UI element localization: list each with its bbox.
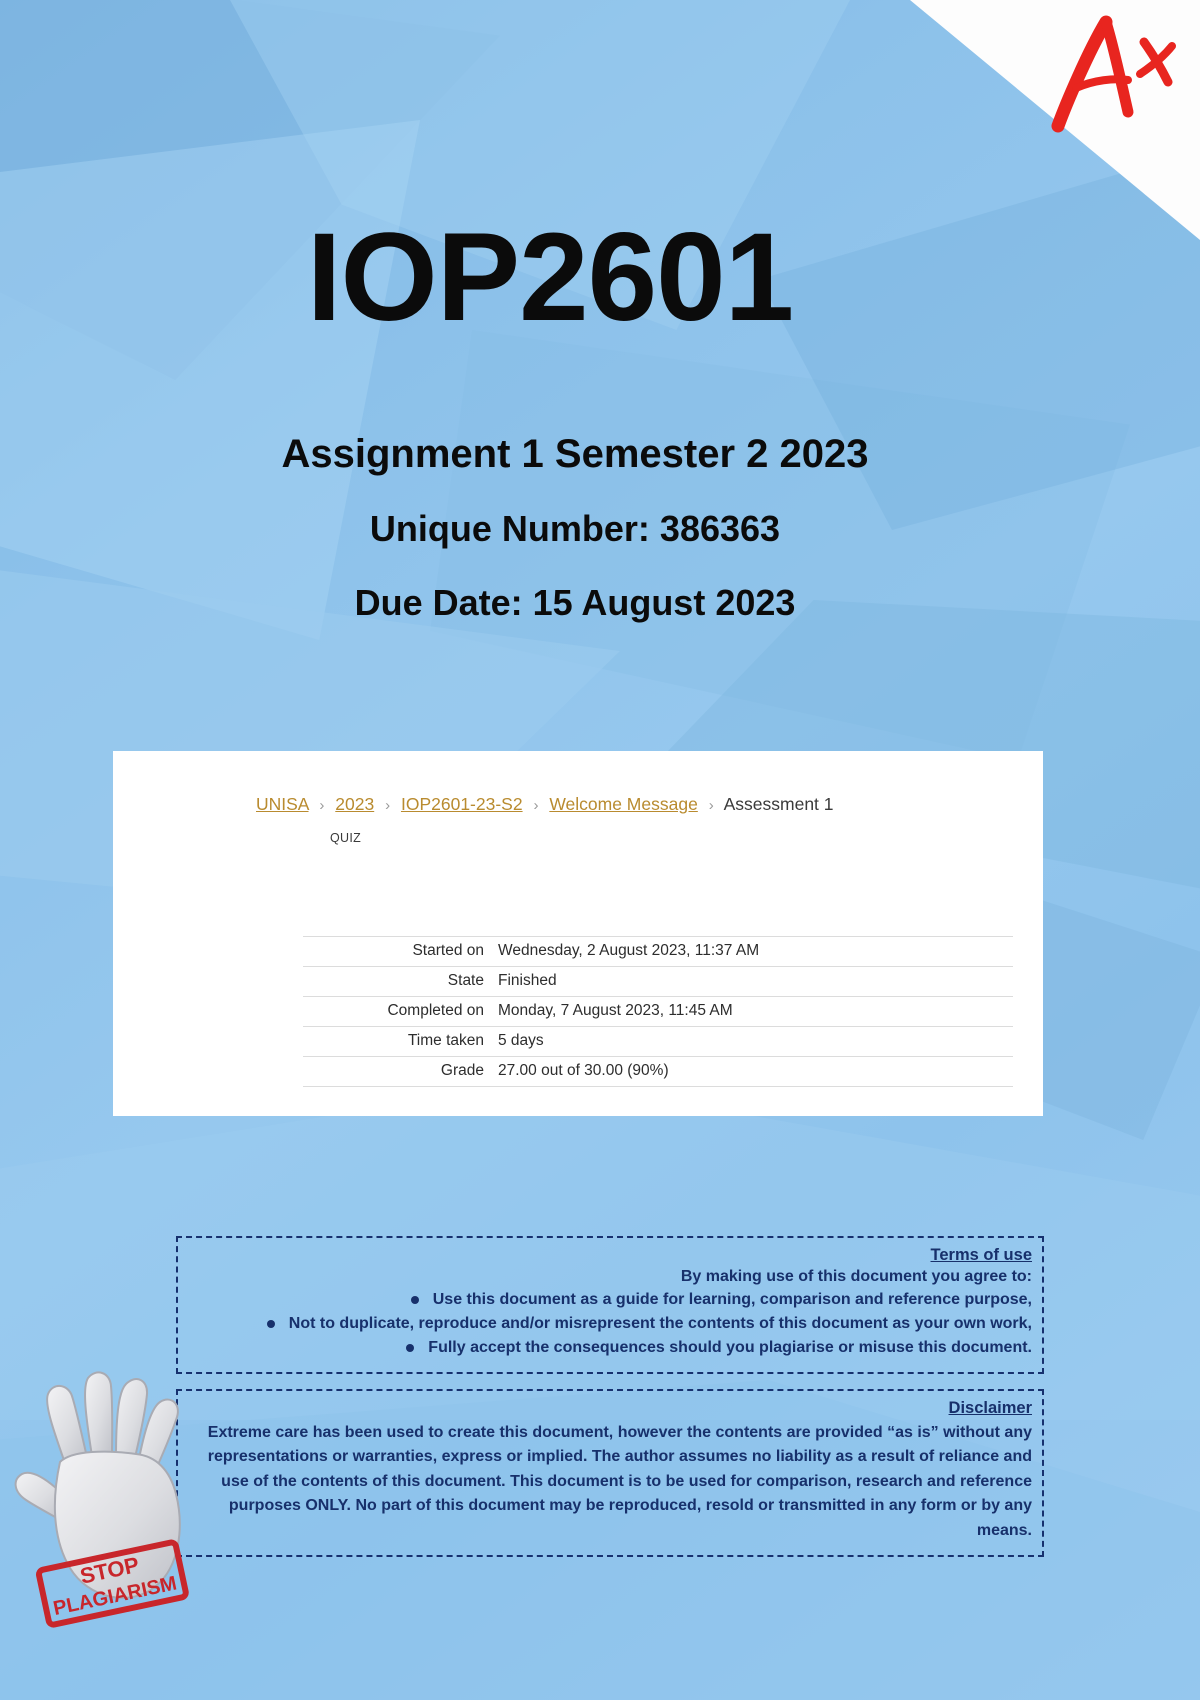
assignment-line: Assignment 1 Semester 2 2023 <box>0 432 1150 477</box>
table-row: Started on Wednesday, 2 August 2023, 11:… <box>303 937 1013 967</box>
terms-intro: By making use of this document you agree… <box>188 1268 1032 1286</box>
table-row: State Finished <box>303 967 1013 997</box>
breadcrumb-separator-icon: › <box>379 797 396 814</box>
breadcrumb-item-assessment-1: Assessment 1 <box>724 794 834 814</box>
breadcrumb-separator-icon: › <box>313 797 330 814</box>
bullet-icon <box>411 1296 419 1304</box>
activity-type-label: QUIZ <box>330 831 361 845</box>
row-value: Wednesday, 2 August 2023, 11:37 AM <box>498 937 1013 967</box>
row-label: Grade <box>303 1057 498 1087</box>
background-shard <box>0 120 420 640</box>
row-label: Completed on <box>303 997 498 1027</box>
table-row: Grade 27.00 out of 30.00 (90%) <box>303 1057 1013 1087</box>
breadcrumb-separator-icon: › <box>703 797 720 814</box>
terms-title: Terms of use <box>188 1246 1032 1265</box>
disclaimer-title: Disclaimer <box>188 1399 1032 1418</box>
row-value: Finished <box>498 967 1013 997</box>
terms-of-use-box: Terms of use By making use of this docum… <box>176 1236 1044 1374</box>
breadcrumb-item-2023[interactable]: 2023 <box>335 794 374 814</box>
a-plus-logo-icon <box>1036 8 1186 138</box>
list-item: Fully accept the consequences should you… <box>188 1336 1032 1360</box>
breadcrumb: UNISA › 2023 › IOP2601-23-S2 › Welcome M… <box>256 794 834 815</box>
row-value: 27.00 out of 30.00 (90%) <box>498 1057 1013 1087</box>
assignment-cover-page: IOP2601 Assignment 1 Semester 2 2023 Uni… <box>0 0 1200 1700</box>
stop-plagiarism-graphic: STOP PLAGIARISM <box>8 1370 218 1660</box>
bullet-icon <box>406 1344 414 1352</box>
list-item-text: Use this document as a guide for learnin… <box>433 1291 1032 1308</box>
row-label: Time taken <box>303 1027 498 1057</box>
row-label: Started on <box>303 937 498 967</box>
list-item: Not to duplicate, reproduce and/or misre… <box>188 1312 1032 1336</box>
list-item: Use this document as a guide for learnin… <box>188 1288 1032 1312</box>
row-value: 5 days <box>498 1027 1013 1057</box>
breadcrumb-item-welcome-message[interactable]: Welcome Message <box>549 794 698 814</box>
list-item-text: Fully accept the consequences should you… <box>428 1339 1032 1356</box>
terms-list: Use this document as a guide for learnin… <box>188 1288 1032 1360</box>
due-date-line: Due Date: 15 August 2023 <box>0 582 1150 624</box>
hand-icon: STOP PLAGIARISM <box>8 1370 218 1660</box>
breadcrumb-item-unisa[interactable]: UNISA <box>256 794 309 814</box>
row-label: State <box>303 967 498 997</box>
unique-number-line: Unique Number: 386363 <box>0 508 1150 550</box>
breadcrumb-item-course[interactable]: IOP2601-23-S2 <box>401 794 523 814</box>
table-row: Time taken 5 days <box>303 1027 1013 1057</box>
breadcrumb-separator-icon: › <box>527 797 544 814</box>
bullet-icon <box>267 1320 275 1328</box>
quiz-attempt-summary-table: Started on Wednesday, 2 August 2023, 11:… <box>303 936 1013 1087</box>
disclaimer-text: Extreme care has been used to create thi… <box>188 1421 1032 1543</box>
page-title: IOP2601 <box>0 215 1100 340</box>
quiz-screenshot-card: UNISA › 2023 › IOP2601-23-S2 › Welcome M… <box>113 751 1043 1116</box>
table-row: Completed on Monday, 7 August 2023, 11:4… <box>303 997 1013 1027</box>
disclaimer-box: Disclaimer Extreme care has been used to… <box>176 1389 1044 1557</box>
list-item-text: Not to duplicate, reproduce and/or misre… <box>289 1315 1032 1332</box>
row-value: Monday, 7 August 2023, 11:45 AM <box>498 997 1013 1027</box>
